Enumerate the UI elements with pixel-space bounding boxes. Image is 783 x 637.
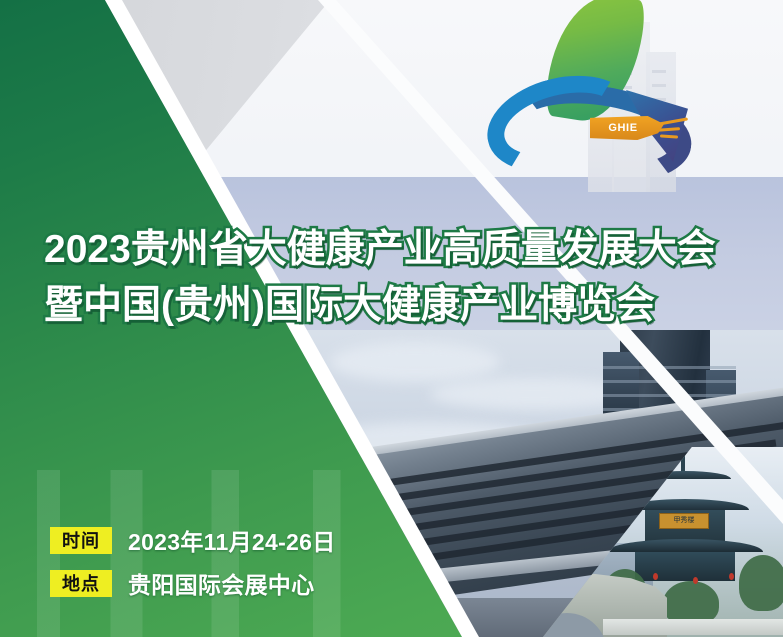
lantern (729, 573, 734, 580)
event-poster: HYATT REGENCY 甲秀楼 (0, 0, 783, 637)
venue-value: 贵阳国际会展中心 (128, 566, 314, 600)
page-title: 2023贵州省大健康产业高质量发展大会 暨中国(贵州)国际大健康产业博览会 (44, 222, 764, 334)
facade-band (603, 366, 736, 369)
pagoda-roof-tier (607, 539, 763, 552)
balustrade (603, 619, 783, 635)
ghie-logo: GHIE (486, 0, 696, 169)
cloud (330, 342, 500, 382)
headline-line-1: 2023贵州省大健康产业高质量发展大会 (44, 222, 764, 278)
pagoda-plaque-text: 甲秀楼 (660, 514, 708, 528)
date-label: 时间 (50, 527, 112, 554)
pagoda-body (635, 547, 735, 581)
venue-label: 地点 (50, 570, 112, 597)
date-value: 2023年11月24-26日 (128, 523, 336, 557)
detail-row-date: 时间 2023年11月24-26日 (50, 523, 336, 557)
event-details: 时间 2023年11月24-26日 地点 贵阳国际会展中心 (50, 523, 336, 609)
detail-row-venue: 地点 贵阳国际会展中心 (50, 566, 336, 600)
ghie-badge-text: GHIE (608, 122, 637, 134)
headline-line-2: 暨中国(贵州)国际大健康产业博览会 (44, 278, 764, 334)
tree (739, 555, 783, 611)
lantern (653, 573, 658, 580)
lantern (693, 577, 698, 584)
pagoda-plaque: 甲秀楼 (659, 513, 709, 529)
